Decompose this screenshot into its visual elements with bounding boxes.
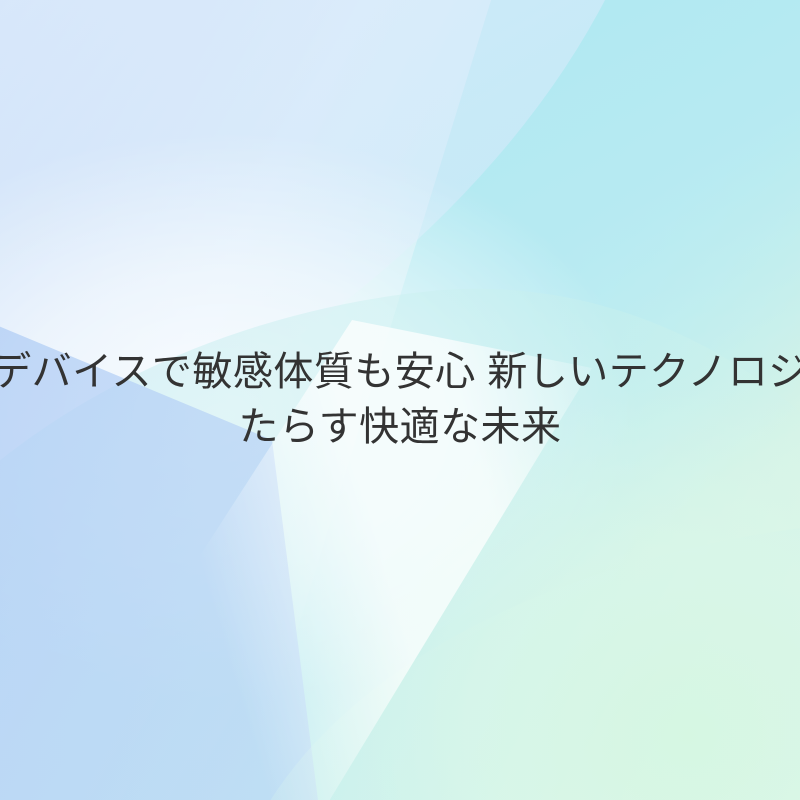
hero-banner: トデバイスで敏感体質も安心 新しいテクノロジー たらす快適な未来 xyxy=(0,0,800,800)
banner-title-line-1: トデバイスで敏感体質も安心 新しいテクノロジー xyxy=(0,345,800,400)
banner-title: トデバイスで敏感体質も安心 新しいテクノロジー たらす快適な未来 xyxy=(0,345,800,455)
background-arc-bottom xyxy=(222,417,800,800)
banner-title-line-2: たらす快適な未来 xyxy=(0,400,800,455)
background-arc-top xyxy=(0,0,800,606)
background-band-mid xyxy=(0,238,800,800)
